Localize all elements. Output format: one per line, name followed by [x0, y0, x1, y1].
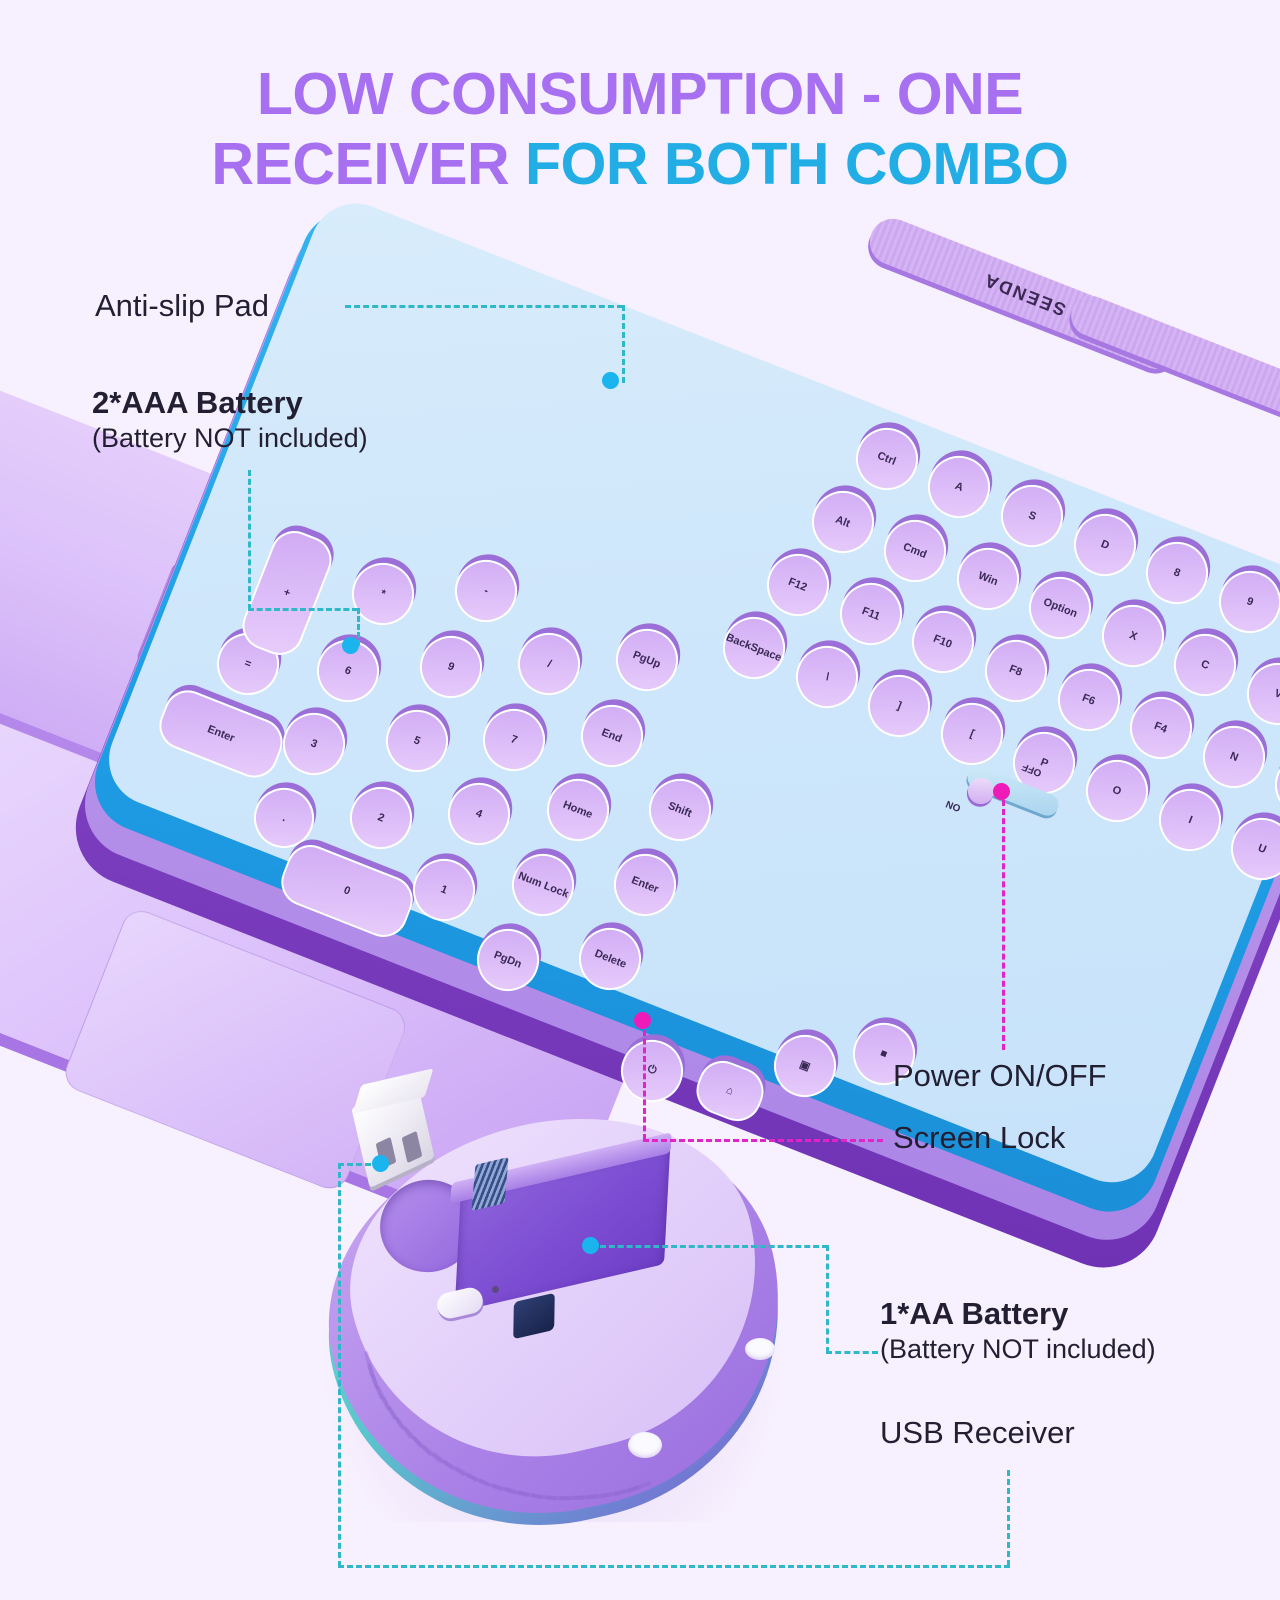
keyboard-key-label: Enter: [630, 874, 661, 895]
keyboard-key-label: 3: [308, 737, 318, 750]
keyboard-key-label: ▣: [797, 1058, 811, 1074]
keyboard-key-label: 0: [342, 884, 352, 897]
keyboard-key-label: I: [1186, 814, 1193, 826]
page-title: LOW CONSUMPTION - ONE RECEIVER FOR BOTH …: [0, 60, 1280, 199]
callout-anti-slip-pad-label: Anti-slip Pad: [95, 288, 269, 325]
keyboard-key-label: Num Lock: [516, 870, 570, 901]
keyboard-key-label: 6: [342, 664, 352, 677]
keyboard-key-label: Win: [976, 570, 999, 589]
keyboard-key-label: -: [482, 585, 490, 598]
keyboard-key-label: PgUp: [632, 649, 663, 671]
headline-line-2-cyan: FOR BOTH COMBO: [525, 131, 1069, 197]
keyboard-key-label: Enter: [205, 723, 236, 744]
keyboard-key-label: V: [1272, 687, 1280, 701]
keyboard-key-label: F8: [1008, 663, 1024, 679]
callout-power-on-off-label: Power ON/OFF: [893, 1058, 1107, 1095]
callout-anti-slip-pad: Anti-slip Pad: [95, 288, 269, 325]
callout-screen-lock: Screen Lock: [893, 1120, 1065, 1157]
antenna-coil: [471, 1157, 508, 1211]
leader-usb-bottom: [338, 1565, 1010, 1568]
brand-name: SEENDA: [981, 268, 1070, 319]
keyboard-key-label: Alt: [834, 514, 852, 531]
keyboard-key-label: 1: [439, 883, 449, 896]
keyboard-key-label: 4: [474, 808, 484, 821]
keyboard-key-label: Delete: [593, 948, 628, 971]
keyboard-key-label: Home: [561, 799, 594, 821]
keyboard-key-label: ⏻: [646, 1063, 659, 1078]
mouse-foot-bottom: [628, 1432, 662, 1458]
keyboard-key-label: C: [1200, 658, 1212, 672]
leader-aa-vertical: [826, 1245, 829, 1353]
callout-usb-receiver: USB Receiver: [880, 1415, 1075, 1452]
headline-line-2-purple: RECEIVER: [211, 131, 525, 197]
mouse-led-dot: [492, 1286, 499, 1293]
keyboard-key-label: [: [968, 728, 976, 741]
keyboard-key-label: BackSpace: [725, 632, 784, 665]
leader-aaa-vertical: [248, 470, 251, 610]
keyboard-key-label: F4: [1153, 720, 1169, 736]
callout-usb-receiver-label: USB Receiver: [880, 1415, 1075, 1452]
keyboard-key-label: 8: [1172, 567, 1182, 580]
keyboard-key-label: ■: [879, 1048, 890, 1062]
keyboard-key-label: ⌂: [725, 1084, 736, 1098]
callout-screen-lock-label: Screen Lock: [893, 1120, 1065, 1157]
dot-power-switch: [993, 783, 1010, 800]
leader-anti-slip-horizontal: [345, 305, 623, 308]
keyboard-key-label: N: [1228, 750, 1240, 764]
callout-aa-battery-note: (Battery NOT included): [880, 1333, 1156, 1365]
keyboard-key-label: O: [1111, 784, 1123, 798]
keyboard-key-label: S: [1026, 509, 1037, 523]
leader-screenlock-horizontal: [643, 1139, 883, 1142]
keyboard-key-label: Shift: [666, 800, 693, 820]
infographic-stage: SEENDA Enter=+.36*0259-147/PgDnNum LockH…: [0, 0, 1280, 1600]
leader-screenlock-vertical: [643, 1030, 646, 1140]
keyboard-key-label: D: [1099, 538, 1111, 552]
callout-aaa-battery-note: (Battery NOT included): [92, 422, 368, 454]
leader-anti-slip-vertical: [622, 305, 625, 383]
mouse-foot-right: [745, 1338, 775, 1360]
dot-aaa-battery: [342, 637, 359, 654]
brand-strip-secondary: [1065, 290, 1280, 419]
headline-line-1: LOW CONSUMPTION - ONE: [0, 60, 1280, 130]
keyboard-key-label: End: [600, 726, 624, 745]
dot-anti-slip-pad: [602, 372, 619, 389]
dot-usb-receiver: [372, 1155, 389, 1172]
keyboard-key-label: +: [282, 587, 292, 601]
keyboard-key-label: *: [379, 587, 387, 600]
keyboard-key-label: Cmd: [902, 541, 929, 561]
callout-power-on-off: Power ON/OFF: [893, 1058, 1107, 1095]
dot-screen-lock-key: [634, 1012, 651, 1029]
keyboard-key-label: PgDn: [492, 949, 523, 971]
keyboard-key-label: 2: [376, 812, 386, 825]
leader-aaa-horizontal: [248, 608, 358, 611]
keyboard-key-label: 5: [412, 735, 422, 748]
keyboard-key-label: 9: [1245, 595, 1255, 608]
keyboard-key-label: F12: [787, 576, 809, 594]
keyboard-key-label: /: [545, 658, 552, 670]
leader-aa-stub: [826, 1351, 878, 1354]
keyboard-key-label: Option: [1042, 596, 1079, 620]
callout-aaa-battery-label: 2*AAA Battery: [92, 385, 368, 422]
keyboard-key-label: X: [1127, 629, 1138, 643]
callout-aa-battery-label: 1*AA Battery: [880, 1296, 1156, 1333]
keyboard-key-label: .: [281, 812, 288, 824]
leader-aa-horizontal: [600, 1245, 828, 1248]
keyboard-key-label: A: [953, 480, 965, 494]
callout-aa-battery: 1*AA Battery (Battery NOT included): [880, 1296, 1156, 1365]
dot-aa-battery: [582, 1237, 599, 1254]
keyboard-key-label: F6: [1080, 692, 1096, 708]
keyboard-key-label: 9: [446, 660, 456, 673]
keyboard-key-label: ]: [895, 699, 903, 712]
keyboard-key-label: 7: [509, 733, 519, 746]
callout-aaa-battery: 2*AAA Battery (Battery NOT included): [92, 385, 368, 454]
leader-power-vertical: [1002, 800, 1005, 1050]
keyboard-key-label: \: [823, 671, 830, 683]
keyboard-key-label: Ctrl: [876, 450, 898, 468]
leader-usb-vertical-left: [338, 1163, 341, 1567]
keyboard-key-label: F11: [860, 605, 881, 623]
keyboard-key-label: =: [243, 657, 253, 671]
leader-usb-vertical-right: [1007, 1470, 1010, 1566]
keyboard-key-label: U: [1256, 842, 1268, 856]
keyboard-key-label: F10: [932, 633, 954, 651]
headline-line-2: RECEIVER FOR BOTH COMBO: [0, 130, 1280, 200]
